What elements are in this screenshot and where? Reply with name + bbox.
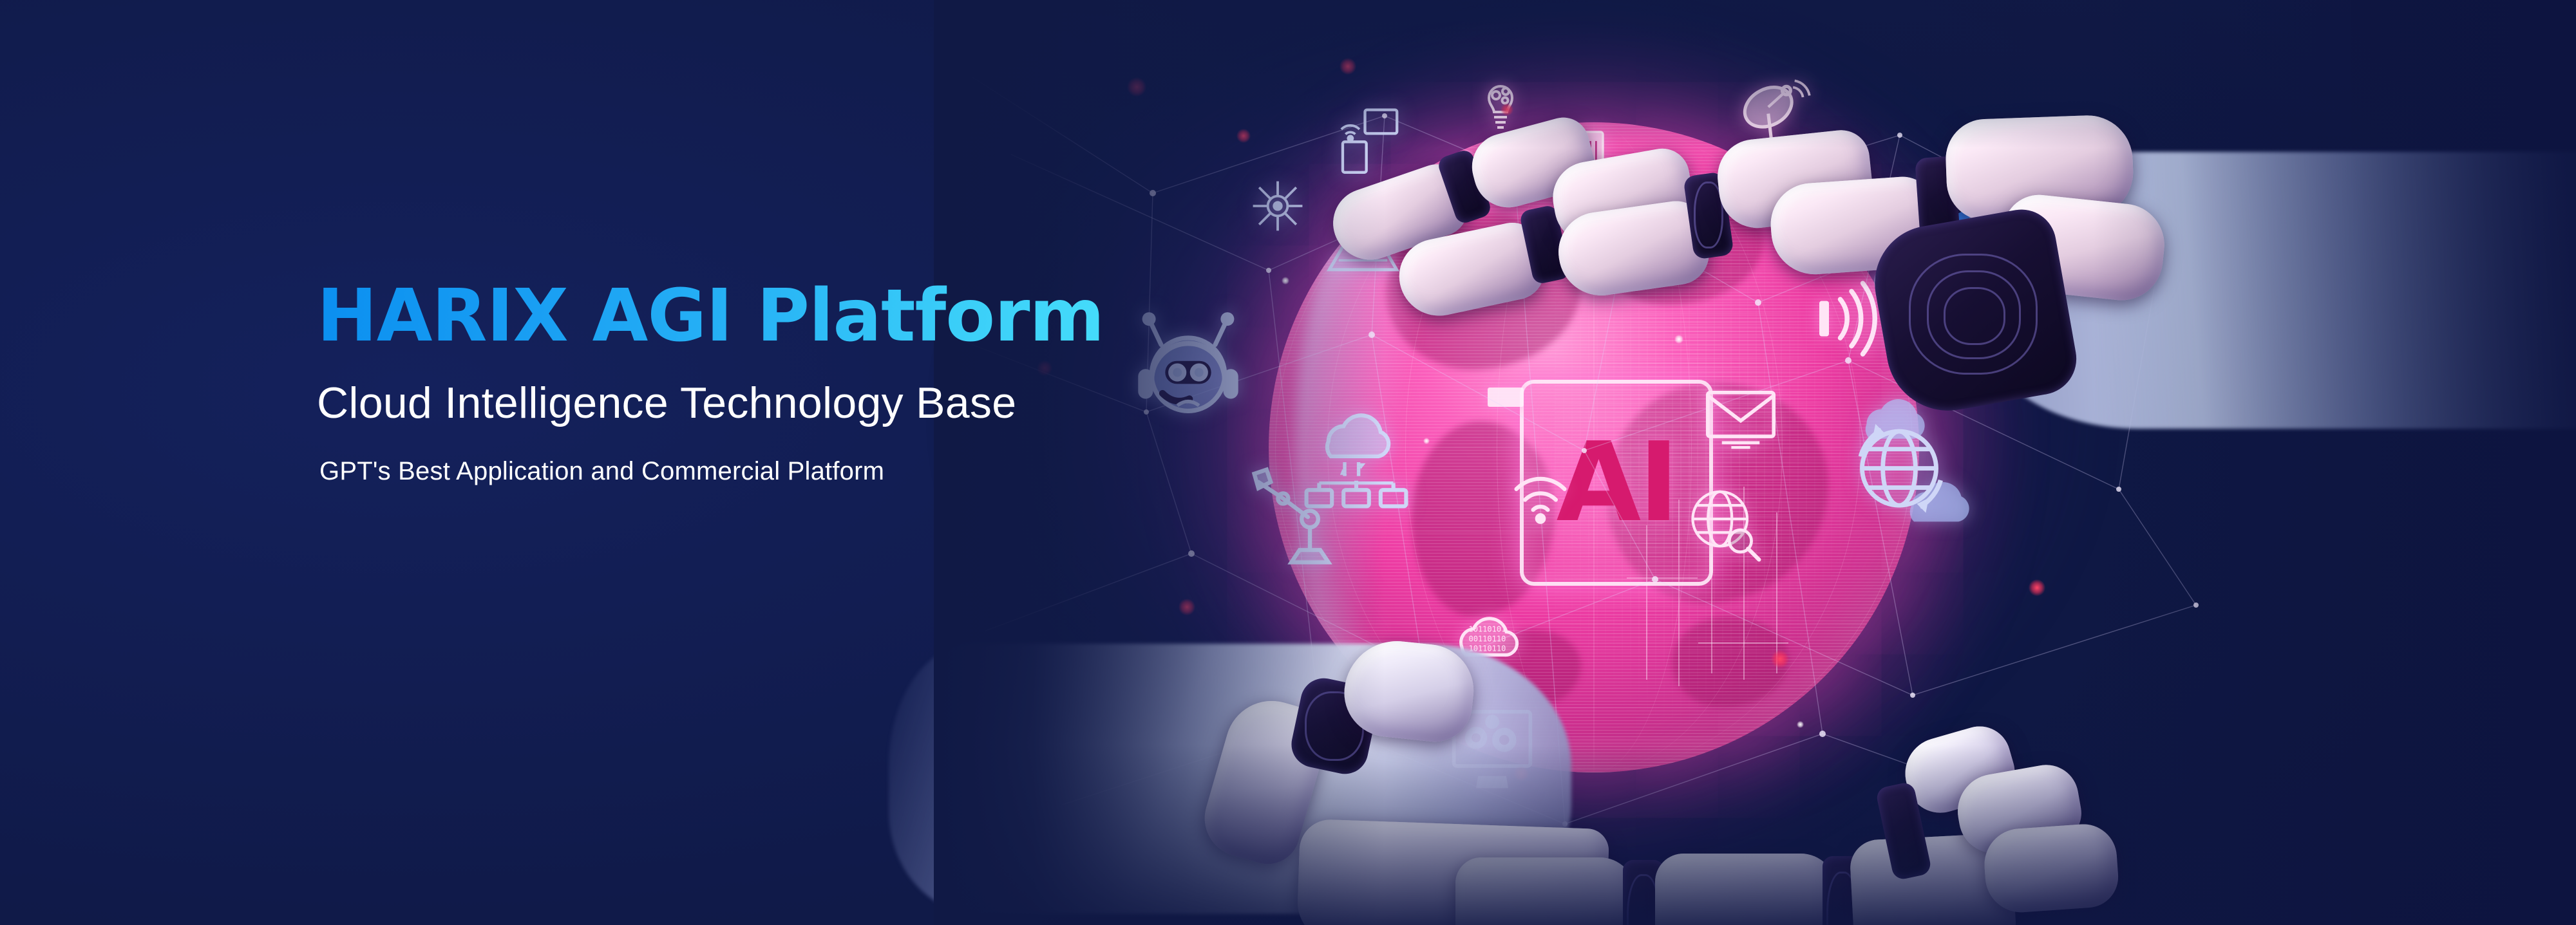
envelope-icon <box>1701 386 1780 451</box>
page-title: HARIX AGI Platform <box>317 278 1104 355</box>
hero-banner: AI <box>0 0 2576 925</box>
robot-wrist-upper <box>1861 193 2132 451</box>
page-subtitle: Cloud Intelligence Technology Base <box>317 379 1104 427</box>
globe-search-icon <box>1681 481 1766 566</box>
light-spark <box>1423 438 1430 444</box>
wifi-signal-icon <box>1507 458 1574 525</box>
ai-artwork: AI <box>934 0 2351 925</box>
page-tagline: GPT's Best Application and Commercial Pl… <box>319 456 1104 487</box>
photo-fade-right <box>2093 0 2576 925</box>
chip-corner-tab <box>1488 388 1524 407</box>
light-spark <box>2029 579 2045 596</box>
ai-badge-label: AI <box>1557 428 1677 537</box>
hero-copy: HARIX AGI Platform Cloud Intelligence Te… <box>317 278 1104 487</box>
